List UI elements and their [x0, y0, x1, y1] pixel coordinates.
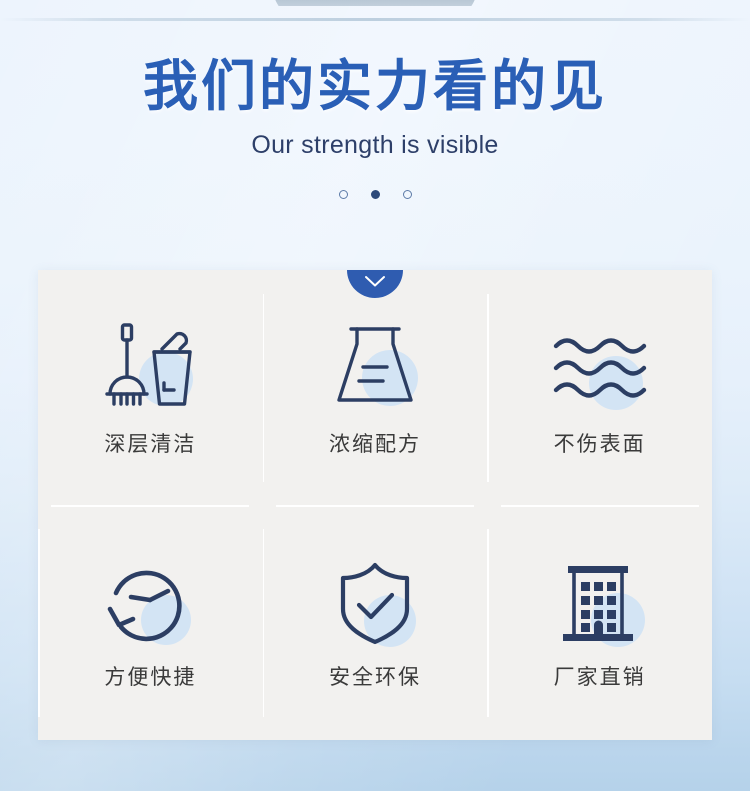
feature-label: 浓缩配方	[329, 428, 421, 458]
feature-cell-factory-direct[interactable]: 厂家直销	[487, 505, 712, 740]
feature-cell-convenient[interactable]: 方便快捷	[38, 505, 263, 740]
page-root: 我们的实力看的见 Our strength is visible	[0, 0, 750, 791]
building-icon	[545, 555, 655, 651]
feature-cell-concentrated-formula[interactable]: 浓缩配方	[263, 270, 488, 505]
feature-cell-no-surface-damage[interactable]: 不伤表面	[487, 270, 712, 505]
waves-icon	[545, 318, 655, 414]
carousel-dot-1[interactable]	[339, 190, 348, 199]
shield-check-icon	[320, 555, 430, 651]
feature-label: 厂家直销	[554, 661, 646, 691]
page-subtitle: Our strength is visible	[0, 131, 750, 160]
features-grid: 深层清洁 浓缩配方	[38, 270, 712, 740]
flask-icon	[320, 318, 430, 414]
feature-label: 深层清洁	[104, 428, 196, 458]
carousel-dots	[0, 190, 750, 199]
feature-cell-safe-eco[interactable]: 安全环保	[263, 505, 488, 740]
carousel-dot-2[interactable]	[371, 190, 380, 199]
clock-rotate-icon	[95, 555, 205, 651]
mop-bucket-icon	[95, 318, 205, 414]
page-title: 我们的实力看的见	[0, 56, 750, 118]
hero-section: 我们的实力看的见 Our strength is visible	[0, 0, 750, 199]
feature-label: 方便快捷	[104, 661, 196, 691]
feature-label: 不伤表面	[554, 428, 646, 458]
feature-label: 安全环保	[329, 661, 421, 691]
features-card: 深层清洁 浓缩配方	[38, 270, 712, 740]
carousel-dot-3[interactable]	[403, 190, 412, 199]
feature-cell-deep-clean[interactable]: 深层清洁	[38, 270, 263, 505]
